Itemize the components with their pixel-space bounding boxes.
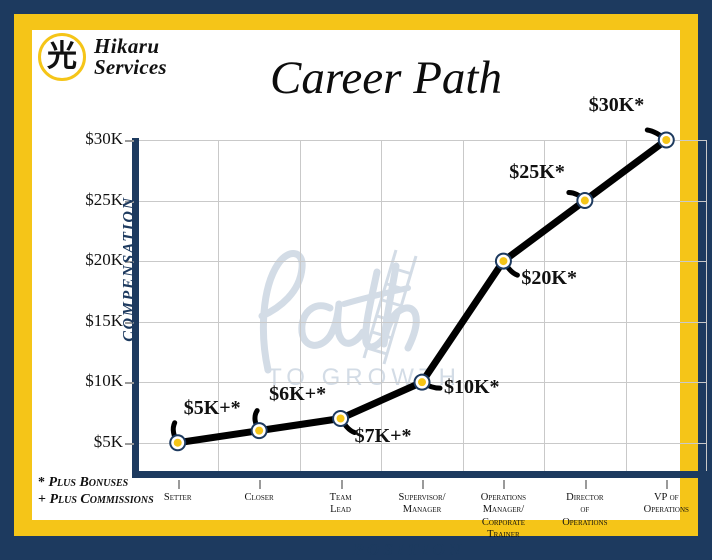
footnote-symbol-asterisk: * — [38, 475, 45, 490]
data-point-label: $6K+* — [269, 383, 326, 406]
data-point-marker[interactable] — [495, 253, 512, 270]
footnote-commissions-text: Plus Commissions — [49, 492, 153, 507]
data-point-label: $20K* — [521, 267, 577, 290]
data-point-label: $5K+* — [184, 397, 241, 420]
poster-root: 光 Hikaru Services Career Path — [0, 0, 712, 550]
y-axis-title: COMPENSATION — [121, 196, 139, 341]
data-point-label: $7K+* — [355, 425, 412, 448]
data-point-label: $25K* — [109, 161, 565, 184]
data-point-label: $30K* — [109, 94, 644, 117]
footnote-bonuses: * Plus Bonuses — [38, 474, 154, 491]
career-path-chart: TO GROWTH $5K$10K$15K$20K$25K$30KSetterC… — [109, 110, 712, 524]
footnote-bonuses-text: Plus Bonuses — [49, 475, 129, 490]
data-point-marker[interactable] — [658, 132, 675, 149]
compensation-line — [178, 140, 667, 443]
data-point-marker[interactable] — [169, 434, 186, 451]
footnote-legend: * Plus Bonuses + Plus Commissions — [38, 474, 154, 508]
data-point-marker[interactable] — [251, 422, 268, 439]
footnote-commissions: + Plus Commissions — [38, 491, 154, 508]
paper-canvas: 光 Hikaru Services Career Path — [32, 30, 680, 520]
x-axis-title: POSITION — [109, 540, 709, 560]
data-point-marker[interactable] — [576, 192, 593, 209]
data-point-label: $10K* — [444, 376, 500, 399]
footnote-symbol-plus: + — [38, 492, 46, 507]
data-point-marker[interactable] — [332, 410, 349, 427]
data-point-marker[interactable] — [414, 374, 431, 391]
